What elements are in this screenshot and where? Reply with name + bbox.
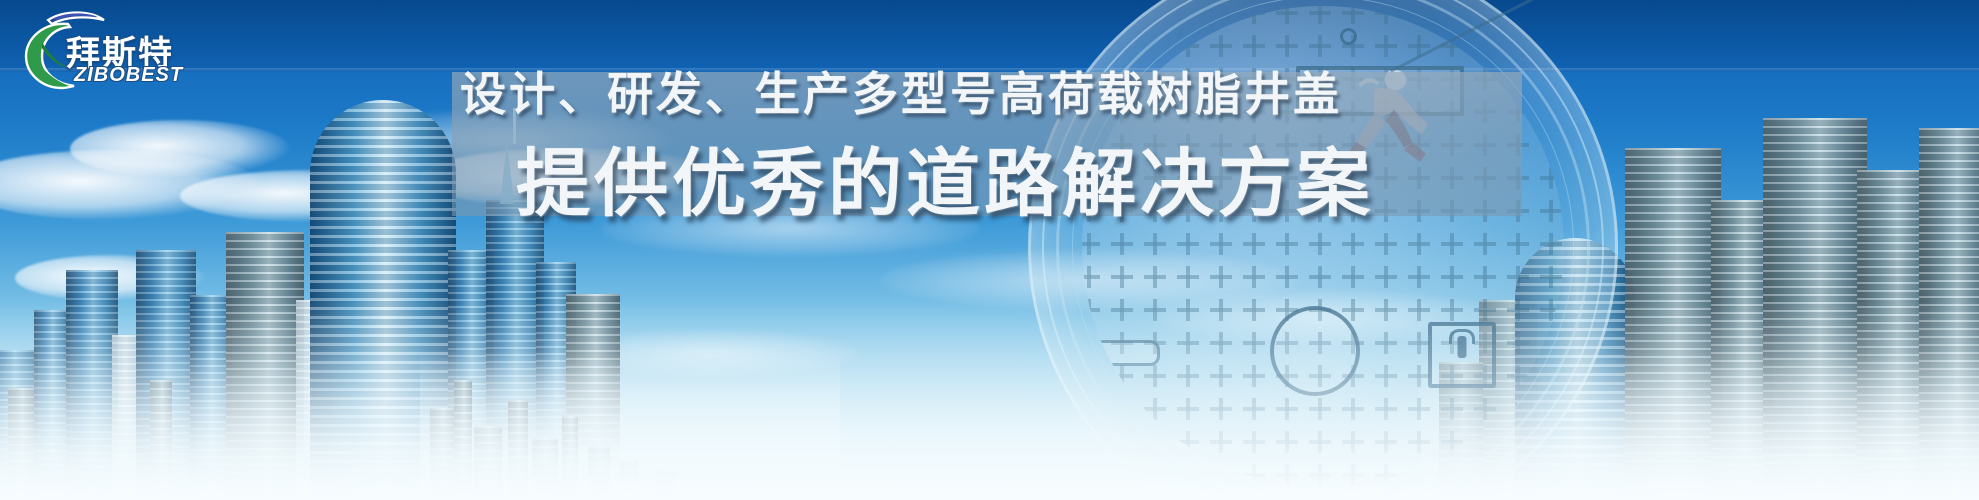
manhole-cross-cell xyxy=(1375,464,1397,486)
manhole-cross-cell xyxy=(1276,464,1298,486)
manhole-cross-cell xyxy=(1243,332,1265,354)
building xyxy=(1625,148,1721,500)
manhole-cross-cell xyxy=(1309,398,1331,420)
building xyxy=(508,400,528,500)
manhole-lift-tab xyxy=(1082,340,1160,366)
manhole-cross-cell xyxy=(1111,365,1133,387)
manhole-cross-cell xyxy=(1375,431,1397,453)
manhole-cross-cell xyxy=(1210,365,1232,387)
manhole-cross-cell xyxy=(1441,299,1463,321)
manhole-cross-cell xyxy=(1144,398,1166,420)
manhole-cross-cell xyxy=(1375,6,1397,24)
manhole-cross-cell xyxy=(1144,266,1166,288)
building xyxy=(226,232,304,500)
manhole-cross-cell xyxy=(1375,233,1397,255)
manhole-cross-cell xyxy=(1375,266,1397,288)
manhole-cross-cell xyxy=(1540,299,1562,321)
manhole-cross-cell xyxy=(1082,299,1100,321)
manhole-cross-cell xyxy=(1309,35,1331,57)
headline-line-1: 设计、研发、生产多型号高荷载树脂井盖 xyxy=(460,58,1342,124)
manhole-cross-cell xyxy=(1276,6,1298,24)
manhole-cross-cell xyxy=(1375,332,1397,354)
manhole-cross-cell xyxy=(1276,35,1298,57)
manhole-cross-cell xyxy=(1210,35,1232,57)
manhole-cross-cell xyxy=(1507,266,1529,288)
manhole-cross-cell xyxy=(1375,398,1397,420)
building xyxy=(532,438,558,500)
manhole-cross-cell xyxy=(1210,332,1232,354)
building xyxy=(430,408,454,500)
manhole-cross-cell xyxy=(1441,266,1463,288)
manhole-cross-cell xyxy=(1210,299,1232,321)
building xyxy=(474,426,502,500)
manhole-cross-cell xyxy=(1342,464,1364,486)
manhole-cross-cell xyxy=(1408,332,1430,354)
manhole-cross-cell xyxy=(1408,398,1430,420)
manhole-cross-cell xyxy=(1342,233,1364,255)
manhole-cross-cell xyxy=(1540,266,1562,288)
manhole-cross-cell xyxy=(1441,431,1463,453)
manhole-cross-cell xyxy=(1309,6,1331,24)
manhole-cross-cell xyxy=(1144,233,1166,255)
manhole-cross-cell xyxy=(1408,299,1430,321)
manhole-cross-cell xyxy=(1276,431,1298,453)
manhole-cross-cell xyxy=(1082,233,1100,255)
building xyxy=(588,446,610,500)
manhole-cross-cell xyxy=(1243,365,1265,387)
building xyxy=(66,270,118,500)
manhole-cross-cell xyxy=(1342,398,1364,420)
manhole-cross-cell xyxy=(1507,365,1529,387)
manhole-cross-cell xyxy=(1210,431,1232,453)
manhole-cross-cell xyxy=(1408,233,1430,255)
manhole-cross-cell xyxy=(1144,365,1166,387)
manhole-cross-cell xyxy=(1309,266,1331,288)
manhole-cross-cell xyxy=(1177,233,1199,255)
manhole-cross-cell xyxy=(1144,299,1166,321)
manhole-cross-cell xyxy=(1177,35,1199,57)
manhole-cross-cell xyxy=(1210,398,1232,420)
manhole-cross-cell xyxy=(1243,35,1265,57)
manhole-cross-cell xyxy=(1408,431,1430,453)
manhole-cross-cell xyxy=(1342,6,1364,24)
headline-line-2: 提供优秀的道路解决方案 xyxy=(516,124,1374,231)
manhole-cross-cell xyxy=(1342,266,1364,288)
manhole-cross-cell xyxy=(1177,398,1199,420)
building xyxy=(656,470,676,500)
manhole-cross-cell xyxy=(1210,233,1232,255)
manhole-cross-cell xyxy=(1111,233,1133,255)
manhole-cross-cell xyxy=(1177,431,1199,453)
building xyxy=(150,380,172,500)
manhole-cross-cell xyxy=(1540,233,1562,255)
manhole-cross-cell xyxy=(1243,266,1265,288)
manhole-cross-cell xyxy=(1243,6,1265,24)
manhole-cross-cell xyxy=(1276,266,1298,288)
manhole-cross-cell xyxy=(1507,299,1529,321)
promo-banner: 设计、研发、生产多型号高荷载树脂井盖 提供优秀的道路解决方案 拜斯特 ZIBOB… xyxy=(0,0,1979,500)
manhole-cross-cell xyxy=(1507,233,1529,255)
building xyxy=(8,388,34,500)
manhole-vent-hole xyxy=(1340,28,1357,45)
manhole-cross-cell xyxy=(1243,233,1265,255)
manhole-cross-cell xyxy=(1243,299,1265,321)
manhole-cross-cell xyxy=(1177,266,1199,288)
company-logo[interactable]: 拜斯特 ZIBOBEST xyxy=(8,4,168,100)
manhole-cross-cell xyxy=(1309,431,1331,453)
manhole-cross-cell xyxy=(1474,398,1496,420)
manhole-lock-latch xyxy=(1428,322,1496,388)
manhole-cross-cell xyxy=(1177,365,1199,387)
manhole-cross-cell xyxy=(1474,266,1496,288)
manhole-cross-cell xyxy=(1540,200,1562,222)
manhole-cross-cell xyxy=(1243,431,1265,453)
manhole-cross-cell xyxy=(1375,299,1397,321)
manhole-cross-cell xyxy=(1375,35,1397,57)
manhole-cross-cell xyxy=(1309,233,1331,255)
manhole-cross-cell xyxy=(1276,398,1298,420)
manhole-cross-cell xyxy=(1243,464,1265,486)
manhole-inspection-hole xyxy=(1270,306,1360,396)
building xyxy=(1763,118,1867,500)
manhole-cross-cell xyxy=(1540,167,1562,189)
manhole-cross-cell xyxy=(1342,431,1364,453)
manhole-cross-cell xyxy=(1111,299,1133,321)
building xyxy=(454,380,472,500)
manhole-cross-cell xyxy=(1177,332,1199,354)
manhole-cross-cell xyxy=(1408,365,1430,387)
building xyxy=(34,310,70,500)
building xyxy=(620,460,638,500)
manhole-cross-cell xyxy=(1210,266,1232,288)
manhole-cross-cell xyxy=(1111,266,1133,288)
manhole-cross-cell xyxy=(1408,266,1430,288)
manhole-cross-cell xyxy=(1474,299,1496,321)
manhole-cross-cell xyxy=(1276,233,1298,255)
manhole-cross-cell xyxy=(1507,332,1529,354)
manhole-cross-cell xyxy=(1309,464,1331,486)
building xyxy=(1919,128,1979,500)
manhole-cross-cell xyxy=(1375,365,1397,387)
manhole-cross-cell xyxy=(1474,233,1496,255)
manhole-cross-cell xyxy=(1177,299,1199,321)
building xyxy=(562,416,578,500)
logo-name-en: ZIBOBEST xyxy=(74,64,183,87)
manhole-cross-cell xyxy=(1441,233,1463,255)
manhole-cross-cell xyxy=(1441,398,1463,420)
manhole-cross-cell xyxy=(1082,266,1100,288)
mid-skyline xyxy=(420,310,840,500)
manhole-cross-cell xyxy=(1243,398,1265,420)
